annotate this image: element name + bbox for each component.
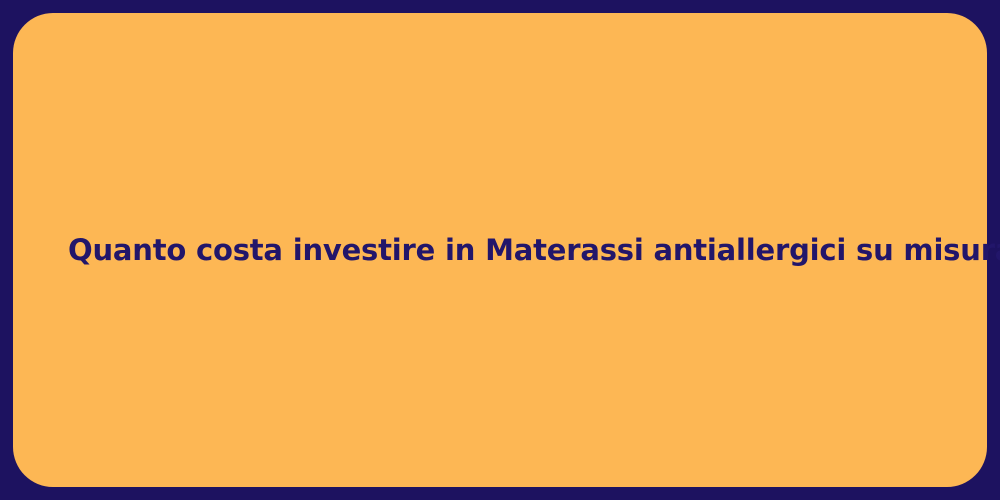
card-panel: Quanto costa investire in Materassi anti… bbox=[13, 13, 987, 487]
card-frame: Quanto costa investire in Materassi anti… bbox=[0, 0, 1000, 500]
question-heading: Quanto costa investire in Materassi anti… bbox=[68, 232, 1000, 268]
